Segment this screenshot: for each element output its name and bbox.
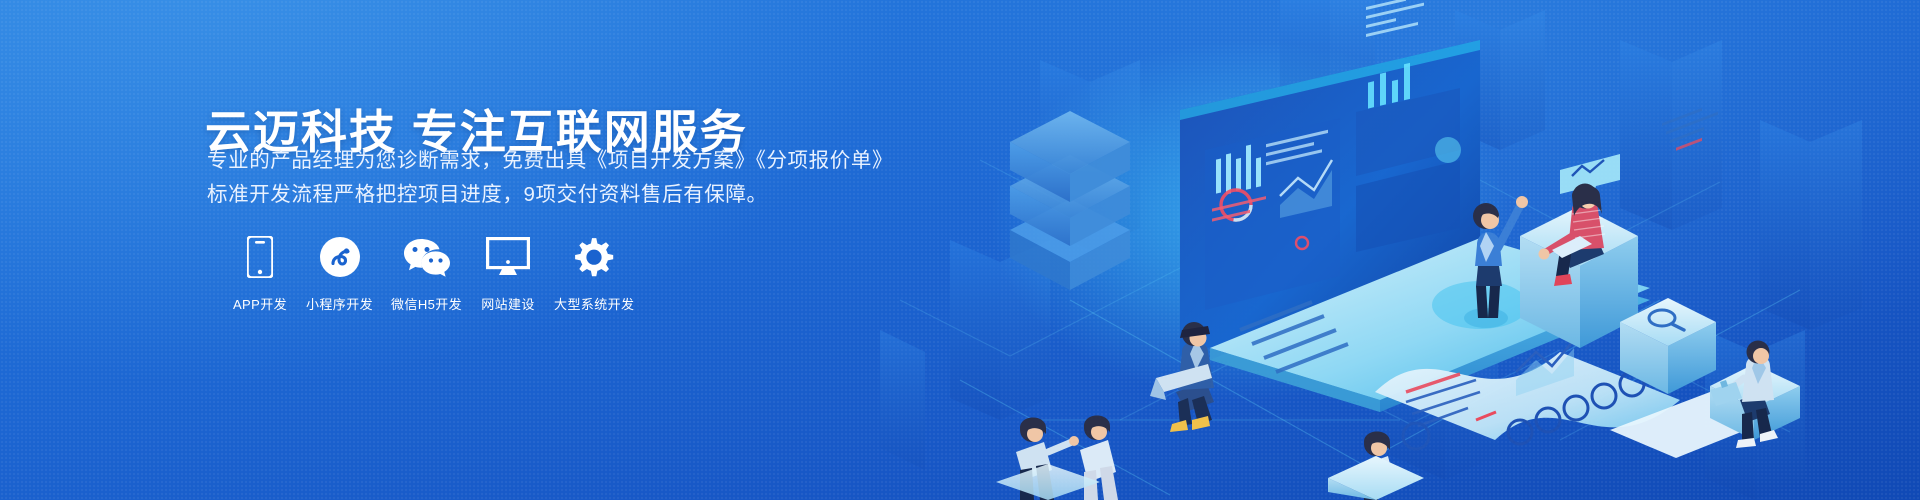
person-bottom-mid <box>1080 416 1118 500</box>
dashboard-screen <box>1180 0 1480 356</box>
tablet-platform <box>1210 238 1650 412</box>
person-standing <box>1464 196 1528 328</box>
server-stack <box>1010 111 1130 290</box>
service-item-wechat-h5[interactable]: 微信H5开发 <box>382 234 471 313</box>
person-bottom-left <box>1016 418 1079 500</box>
mini-program-icon <box>320 234 360 280</box>
service-label-large-system: 大型系统开发 <box>554 294 634 313</box>
sheet-gauges <box>1508 372 1644 444</box>
person-seated-laptop <box>1150 322 1214 432</box>
service-label-wechat-h5: 微信H5开发 <box>391 294 462 313</box>
small-platform-left <box>996 464 1100 500</box>
banner-content: 云迈科技 专注互联网服务 专业的产品经理为您诊断需求，免费出具《项目开发方案》《… <box>205 0 905 500</box>
hero-banner: 云迈科技 专注互联网服务 专业的产品经理为您诊断需求，免费出具《项目开发方案》《… <box>0 0 1920 500</box>
ambient-glow <box>990 40 1510 400</box>
subtitle-line-1: 专业的产品经理为您诊断需求，免费出具《项目开发方案》《分项报价单》 <box>207 144 887 178</box>
person-walking-briefcase <box>1710 341 1778 449</box>
wechat-icon <box>404 234 450 280</box>
service-label-mini-program: 小程序开发 <box>306 294 373 313</box>
screen-touch-glow <box>1435 137 1461 163</box>
person-seated-pillar <box>1539 184 1606 287</box>
person-bottom-right <box>1360 432 1396 500</box>
geo-wire-lines <box>900 160 1790 440</box>
gear-icon <box>573 234 615 280</box>
document-panel <box>1610 108 1776 458</box>
pad-lines <box>1240 302 1348 372</box>
mobile-phone-icon <box>247 234 273 280</box>
magnifier-icon <box>1649 310 1684 330</box>
monitor-icon <box>486 234 530 280</box>
cube-steps <box>1520 206 1800 440</box>
service-item-website[interactable]: 网站建设 <box>471 234 545 313</box>
service-icon-row: APP开发 小程序开发 <box>223 234 643 313</box>
ground-grid <box>960 290 1800 495</box>
isometric-tech-illustration <box>920 0 1920 500</box>
geo-buildings <box>880 0 1862 500</box>
subtitle-line-2: 标准开发流程严格把控项目进度，9项交付资料售后有保障。 <box>207 178 887 212</box>
data-sheet <box>1375 340 1680 449</box>
service-item-large-system[interactable]: 大型系统开发 <box>545 234 643 313</box>
service-item-mini-program[interactable]: 小程序开发 <box>297 234 382 313</box>
small-platform <box>1328 456 1424 500</box>
service-label-app: APP开发 <box>233 294 287 313</box>
service-label-website: 网站建设 <box>481 294 535 313</box>
chat-bubble <box>1560 154 1620 198</box>
banner-subtitle: 专业的产品经理为您诊断需求，免费出具《项目开发方案》《分项报价单》 标准开发流程… <box>207 144 887 212</box>
service-item-app[interactable]: APP开发 <box>223 234 297 313</box>
